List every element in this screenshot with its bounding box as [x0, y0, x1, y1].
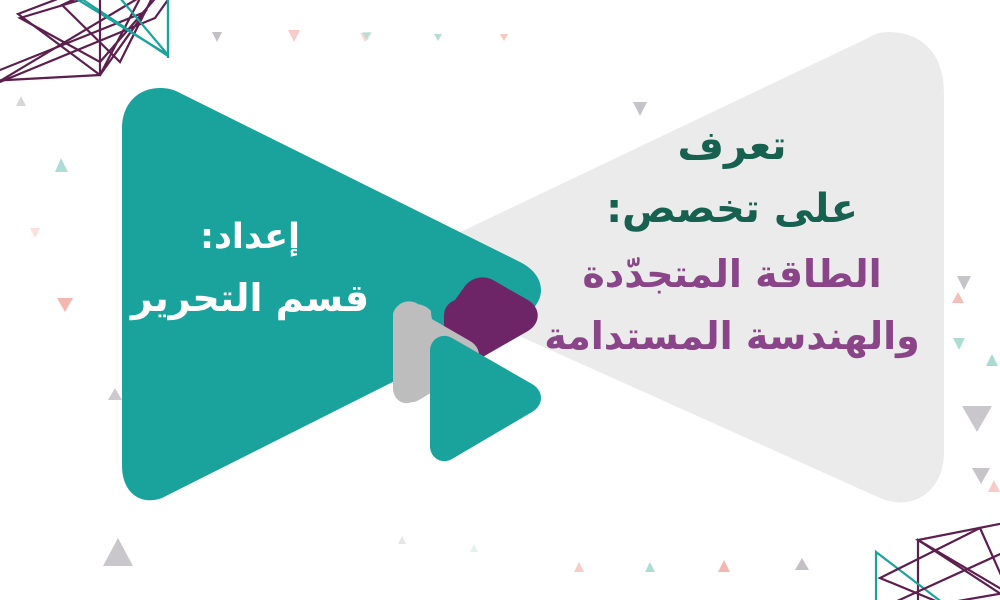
three-chevron-logo: [0, 0, 1000, 600]
poster-canvas: إعداد: قسم التحرير تعرف على تخصص: الطاقة…: [0, 0, 1000, 600]
